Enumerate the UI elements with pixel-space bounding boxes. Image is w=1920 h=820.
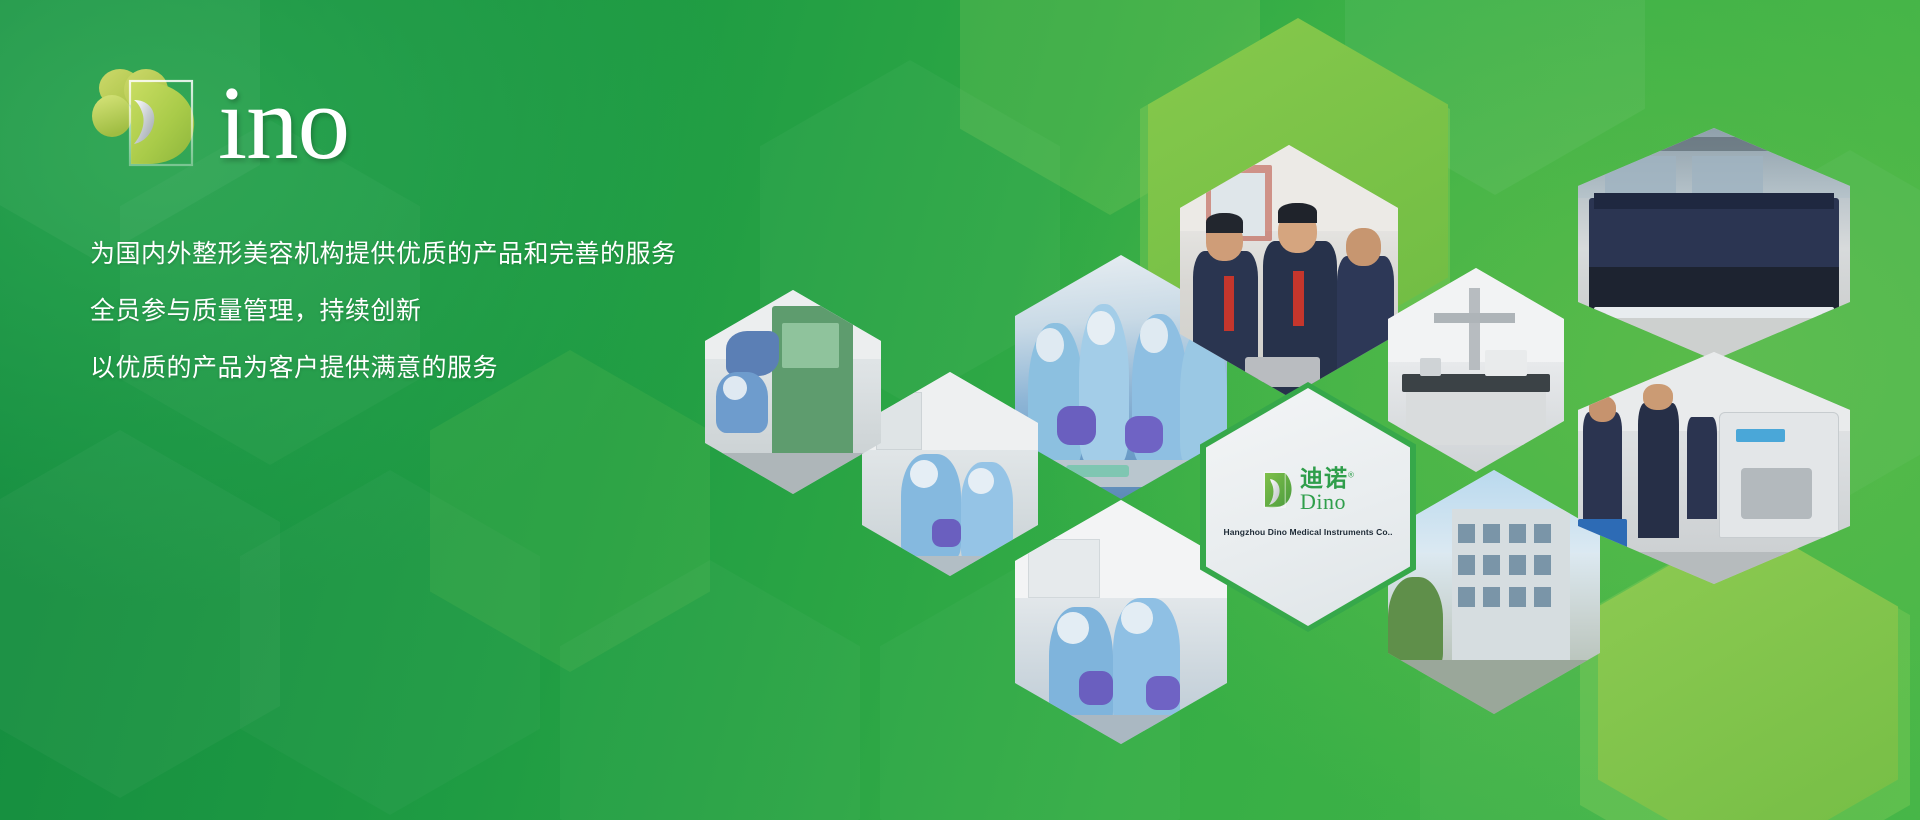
hex-photo-cleanroom-packing[interactable] bbox=[1015, 500, 1227, 744]
brand-badge-text: 迪诺® Dino bbox=[1300, 467, 1355, 513]
brand-badge-en-name: Dino bbox=[1300, 491, 1355, 513]
hex-photo-laboratory[interactable] bbox=[1388, 268, 1564, 472]
hexagon-photo-cluster: 迪诺® Dino Hangzhou Dino Medical Instrumen… bbox=[0, 0, 1920, 820]
brand-badge-cn-name: 迪诺® bbox=[1300, 467, 1355, 490]
registered-trademark-icon: ® bbox=[1348, 470, 1355, 479]
hex-photo-production-machine[interactable] bbox=[705, 290, 881, 494]
brand-badge-cn-label: 迪诺 bbox=[1300, 465, 1348, 491]
hero-banner: ino 为国内外整形美容机构提供优质的产品和完善的服务 全员参与质量管理，持续创… bbox=[0, 0, 1920, 820]
hex-photo-factory-building[interactable] bbox=[1388, 470, 1600, 714]
brand-badge-company-name: Hangzhou Dino Medical Instruments Co.. bbox=[1223, 527, 1392, 537]
hex-photo-assembly-line[interactable] bbox=[862, 372, 1038, 576]
brand-badge-logo-row: 迪诺® Dino bbox=[1261, 467, 1355, 513]
brand-badge-inner: 迪诺® Dino Hangzhou Dino Medical Instrumen… bbox=[1206, 388, 1410, 626]
dino-leaf-mark-small-icon bbox=[1261, 470, 1295, 510]
hex-photo-group-portrait[interactable] bbox=[1578, 128, 1850, 360]
hex-photo-cnc-workshop[interactable] bbox=[1578, 352, 1850, 584]
brand-badge-hexagon[interactable]: 迪诺® Dino Hangzhou Dino Medical Instrumen… bbox=[1200, 382, 1416, 632]
